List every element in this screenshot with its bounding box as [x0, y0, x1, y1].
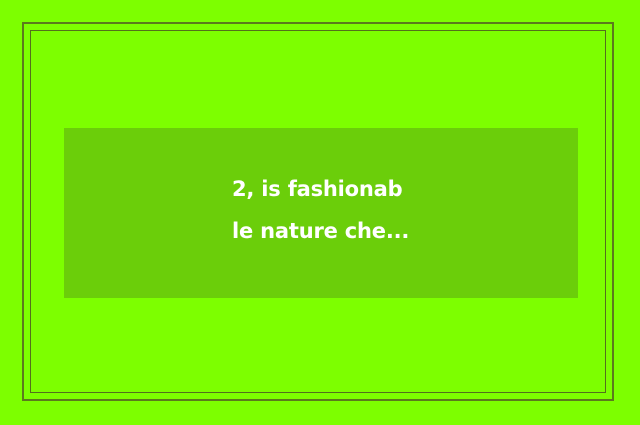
caption-text-block: 2, is fashionab le nature che... [232, 168, 562, 252]
screenshot-canvas: 2, is fashionab le nature che... [0, 0, 640, 425]
caption-line-1: 2, is fashionab [232, 168, 562, 210]
caption-line-2: le nature che... [232, 210, 562, 252]
caption-panel: 2, is fashionab le nature che... [64, 128, 578, 298]
